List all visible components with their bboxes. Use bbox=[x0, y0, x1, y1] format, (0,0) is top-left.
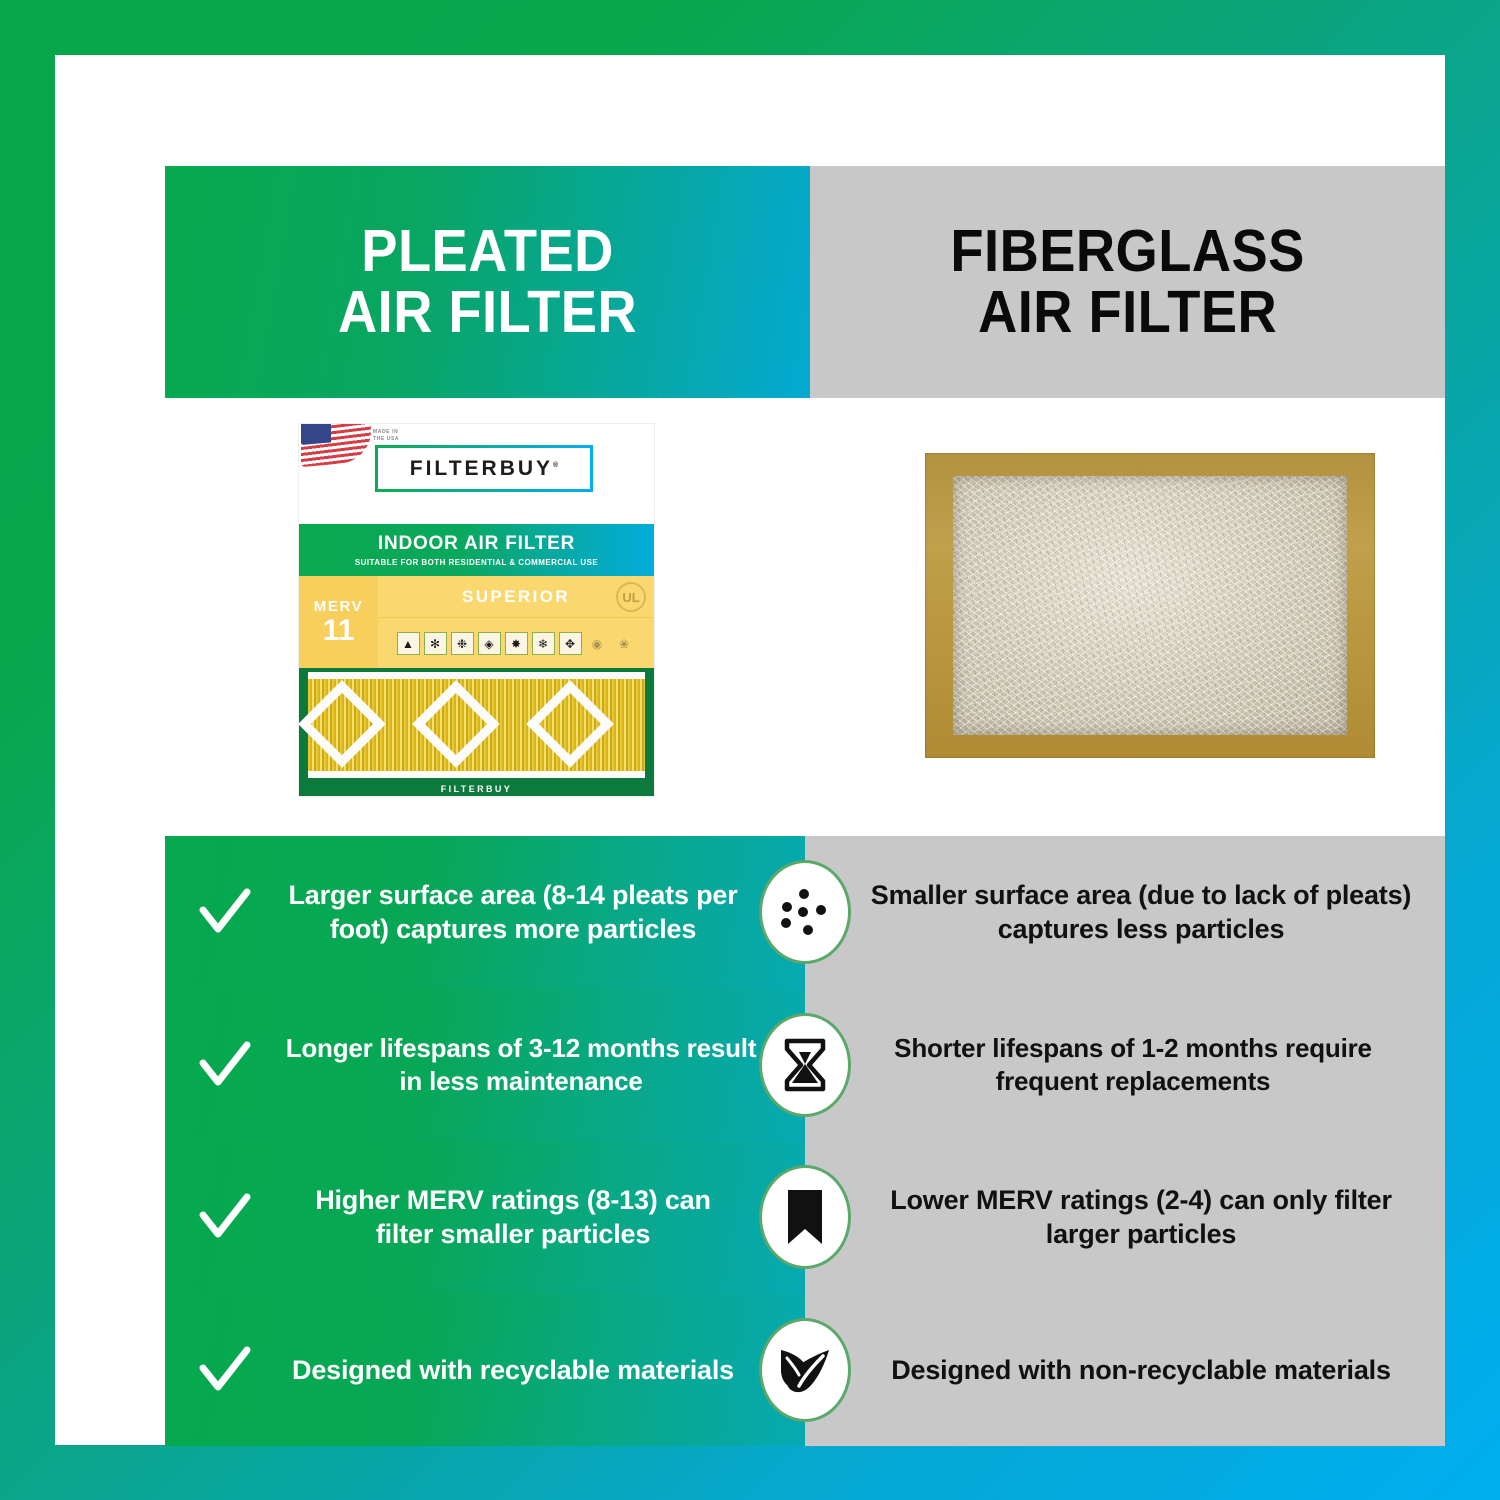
hourglass-icon bbox=[759, 1013, 851, 1117]
brand-word: FILTERBUY bbox=[410, 457, 553, 480]
header-fiberglass-line2: AIR FILTER bbox=[978, 279, 1277, 345]
mold-spores-icon: ◈ bbox=[478, 632, 501, 655]
pleated-filter-product-image: MADE IN THE USA FILTERBUY® INDOOR AIR FI… bbox=[299, 424, 654, 796]
table-row: Higher MERV ratings (8-13) can filter sm… bbox=[165, 1141, 1445, 1294]
merv-value: 11 bbox=[323, 616, 355, 646]
header-pleated-line1: PLEATED bbox=[361, 218, 614, 284]
dots-cluster bbox=[778, 885, 832, 939]
smoke-icon: ✥ bbox=[559, 632, 582, 655]
virus-icon: ◉ bbox=[586, 632, 609, 655]
made-in-usa-label: MADE IN THE USA bbox=[373, 429, 399, 443]
eco-leaf-glyph bbox=[776, 1341, 834, 1399]
pleated-box-top-panel: MADE IN THE USA FILTERBUY® bbox=[299, 424, 654, 524]
merv-label: MERV bbox=[314, 598, 363, 615]
wire-support-bottom bbox=[308, 771, 645, 778]
product-images-row: MADE IN THE USA FILTERBUY® INDOOR AIR FI… bbox=[165, 398, 1445, 836]
fiberglass-media-texture bbox=[953, 476, 1347, 735]
checkmark-icon bbox=[165, 883, 283, 941]
brand-registered-mark: ® bbox=[553, 462, 558, 469]
content-canvas: PLEATED AIR FILTER FIBERGLASS AIR FILTER bbox=[55, 55, 1445, 1445]
band-title: INDOOR AIR FILTER bbox=[378, 533, 575, 555]
row-pleated-cell: Higher MERV ratings (8-13) can filter sm… bbox=[165, 1141, 805, 1294]
hourglass-glyph bbox=[776, 1036, 834, 1094]
header-pleated-title: PLEATED AIR FILTER bbox=[338, 221, 637, 343]
filterbuy-logo-box: FILTERBUY® bbox=[375, 445, 593, 492]
made-in-line2: THE USA bbox=[373, 436, 399, 442]
particles-dots-icon bbox=[759, 860, 851, 964]
header-pleated-panel: PLEATED AIR FILTER bbox=[165, 166, 810, 398]
fiberglass-drawback-text: Shorter lifespans of 1-2 months require … bbox=[805, 1032, 1445, 1098]
merv-badge: MERV 11 bbox=[299, 576, 378, 668]
table-row: Larger surface area (8-14 pleats per foo… bbox=[165, 836, 1445, 989]
capability-icon-strip: ▲ ✻ ❉ ◈ ✸ ❄ ✥ ◉ ❀ bbox=[378, 619, 654, 668]
row-fiberglass-cell: Lower MERV ratings (2-4) can only filter… bbox=[805, 1141, 1445, 1294]
grade-label: SUPERIOR bbox=[462, 587, 570, 607]
ul-certification-icon: UL bbox=[616, 582, 646, 612]
filterbuy-logo-text: FILTERBUY® bbox=[410, 457, 558, 481]
bookmark-ribbon-glyph bbox=[776, 1188, 834, 1246]
pleated-benefit-text: Longer lifespans of 3-12 months result i… bbox=[283, 1032, 805, 1098]
pollen-icon: ❉ bbox=[451, 632, 474, 655]
grade-row: SUPERIOR UL bbox=[378, 576, 654, 618]
row-pleated-cell: Longer lifespans of 3-12 months result i… bbox=[165, 989, 805, 1142]
pet-dander-icon: ❄ bbox=[532, 632, 555, 655]
insect-icon: ✻ bbox=[424, 632, 447, 655]
particles-dots-glyph bbox=[776, 883, 834, 941]
comparison-header: PLEATED AIR FILTER FIBERGLASS AIR FILTER bbox=[165, 166, 1445, 398]
pleated-benefit-text: Higher MERV ratings (8-13) can filter sm… bbox=[283, 1183, 805, 1251]
dust-lint-icon: ▲ bbox=[397, 632, 420, 655]
row-fiberglass-cell: Designed with non-recyclable materials bbox=[805, 1294, 1445, 1447]
table-row: Designed with recyclable materials Desig… bbox=[165, 1294, 1445, 1447]
header-fiberglass-panel: FIBERGLASS AIR FILTER bbox=[810, 166, 1445, 398]
row-pleated-cell: Larger surface area (8-14 pleats per foo… bbox=[165, 836, 805, 989]
row-fiberglass-cell: Smaller surface area (due to lack of ple… bbox=[805, 836, 1445, 989]
band-subtitle: SUITABLE FOR BOTH RESIDENTIAL & COMMERCI… bbox=[355, 558, 598, 567]
merv-info-panel: MERV 11 SUPERIOR UL ▲ ✻ ❉ ◈ ✸ bbox=[299, 576, 654, 668]
pleated-benefit-text: Larger surface area (8-14 pleats per foo… bbox=[283, 878, 805, 946]
odor-icon: ❀ bbox=[613, 632, 636, 655]
pleated-filter-box: MADE IN THE USA FILTERBUY® INDOOR AIR FI… bbox=[299, 424, 654, 796]
fiberglass-filter-product-image bbox=[925, 453, 1375, 758]
eco-leaf-icon bbox=[759, 1318, 851, 1422]
checkmark-icon bbox=[165, 1036, 283, 1094]
header-fiberglass-title: FIBERGLASS AIR FILTER bbox=[950, 221, 1304, 343]
fiberglass-drawback-text: Lower MERV ratings (2-4) can only filter… bbox=[805, 1183, 1445, 1251]
header-fiberglass-line1: FIBERGLASS bbox=[950, 218, 1304, 284]
pleated-media-area: FILTERBUY bbox=[299, 668, 654, 796]
fiberglass-drawback-text: Smaller surface area (due to lack of ple… bbox=[805, 878, 1445, 946]
made-in-line1: MADE IN bbox=[373, 429, 398, 435]
row-fiberglass-cell: Shorter lifespans of 1-2 months require … bbox=[805, 989, 1445, 1142]
header-pleated-line2: AIR FILTER bbox=[338, 279, 637, 345]
row-pleated-cell: Designed with recyclable materials bbox=[165, 1294, 805, 1447]
fiberglass-drawback-text: Designed with non-recyclable materials bbox=[805, 1353, 1445, 1387]
indoor-air-filter-band: INDOOR AIR FILTER SUITABLE FOR BOTH RESI… bbox=[299, 524, 654, 576]
usa-flag-icon bbox=[301, 424, 371, 467]
checkmark-icon bbox=[165, 1188, 283, 1246]
wire-support-top bbox=[308, 672, 645, 679]
comparison-table: Larger surface area (8-14 pleats per foo… bbox=[165, 836, 1445, 1446]
gradient-border-frame: PLEATED AIR FILTER FIBERGLASS AIR FILTER bbox=[0, 0, 1500, 1500]
bookmark-ribbon-icon bbox=[759, 1165, 851, 1269]
bacteria-icon: ✸ bbox=[505, 632, 528, 655]
pleated-footer-brand: FILTERBUY bbox=[299, 784, 654, 794]
pleated-benefit-text: Designed with recyclable materials bbox=[283, 1353, 805, 1387]
checkmark-icon bbox=[165, 1341, 283, 1399]
table-row: Longer lifespans of 3-12 months result i… bbox=[165, 989, 1445, 1142]
